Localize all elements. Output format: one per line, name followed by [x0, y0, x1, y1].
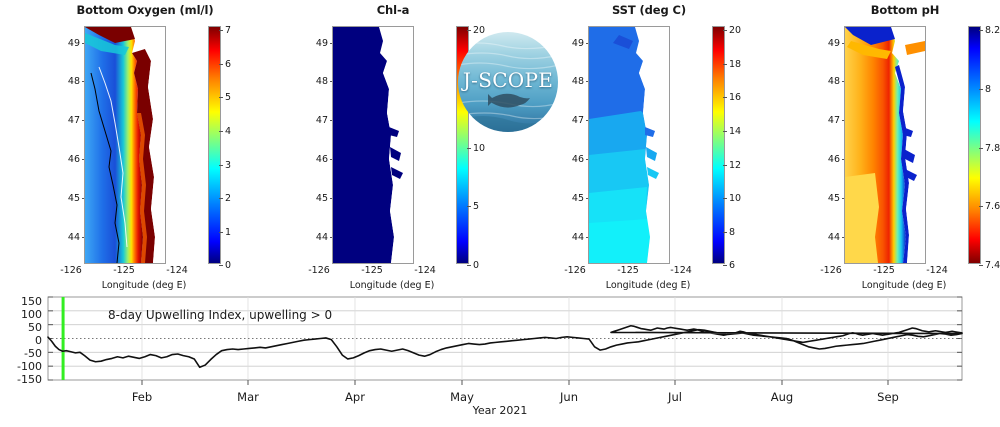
cbar-tick: 10	[473, 144, 485, 153]
cbar-tick: 14	[729, 127, 741, 136]
lat-tick: 45	[550, 195, 584, 203]
lat-tick: 45	[806, 195, 840, 203]
upwelling-plot-area	[0, 292, 1000, 387]
lon-tick: -125	[355, 265, 389, 276]
cbar-tick: 5	[473, 202, 479, 211]
map-sst[interactable]	[588, 26, 670, 264]
lat-tick: 46	[806, 156, 840, 164]
x-axis-label-longitude: Longitude (deg E)	[64, 280, 224, 291]
colorbar-labels-bottom-oxygen: 7 6 5 4 3 2 1 0	[222, 20, 262, 268]
lat-tick: 46	[46, 156, 80, 164]
cbar-tick: 0	[473, 261, 479, 270]
lon-tick: -126	[302, 265, 336, 276]
cbar-tick: 3	[225, 161, 231, 170]
x-axis-label-longitude: Longitude (deg E)	[824, 280, 984, 291]
cbar-tick: 20	[729, 26, 741, 35]
cbar-tick: 6	[729, 261, 735, 270]
lon-tick: -126	[54, 265, 88, 276]
lat-tick: 45	[46, 195, 80, 203]
cbar-tick: 5	[225, 93, 231, 102]
lon-tick: -126	[558, 265, 592, 276]
lon-ticks: -126 -125 -124	[558, 265, 698, 276]
lat-tick: 46	[550, 156, 584, 164]
lon-tick: -125	[107, 265, 141, 276]
lat-tick: 44	[550, 234, 584, 242]
lat-tick: 46	[294, 156, 328, 164]
chart-annotation: 8-day Upwelling Index, upwelling > 0	[108, 308, 332, 322]
lon-ticks: -126 -125 -124	[302, 265, 442, 276]
lon-tick: -125	[867, 265, 901, 276]
cbar-tick: 12	[729, 161, 741, 170]
lon-tick: -126	[814, 265, 848, 276]
x-tick: Jun	[560, 390, 578, 404]
lat-tick: 47	[806, 117, 840, 125]
cbar-tick: 6	[225, 60, 231, 69]
panel-bottom-oxygen: Bottom Oxygen (ml/l) Latitude (deg N) 49…	[40, 0, 290, 290]
panel-bottom-ph: Bottom pH Latitude (deg N) 49 48 47 46 4…	[800, 0, 1000, 290]
x-tick: Sep	[877, 390, 899, 404]
cbar-tick: 18	[729, 60, 741, 69]
lon-tick: -124	[664, 265, 698, 276]
map-raster-sst	[589, 27, 669, 263]
cbar-tick: 7	[225, 26, 231, 35]
cbar-tick: 1	[225, 228, 231, 237]
x-tick: Apr	[345, 390, 365, 404]
lat-tick: 47	[46, 117, 80, 125]
cbar-tick: 2	[225, 194, 231, 203]
colorbar-bottom-oxygen	[208, 26, 221, 264]
lon-ticks: -126 -125 -124	[814, 265, 954, 276]
cbar-tick: 8.2	[985, 26, 1000, 35]
cbar-tick: 7.4	[985, 261, 1000, 270]
x-axis-label-longitude: Longitude (deg E)	[568, 280, 728, 291]
map-bottom-oxygen[interactable]	[84, 26, 166, 264]
map-raster-ph	[845, 27, 925, 263]
cbar-tick: 8	[729, 228, 735, 237]
panel-title-chl-a: Chl-a	[288, 3, 498, 17]
map-raster-oxygen	[85, 27, 165, 263]
colorbar-labels-sst: 20 18 16 14 12 10 8 6	[726, 20, 766, 268]
map-panels-row: Bottom Oxygen (ml/l) Latitude (deg N) 49…	[0, 0, 1000, 290]
x-tick: Mar	[237, 390, 259, 404]
x-axis-label-year: Year 2021	[0, 404, 1000, 417]
lon-tick: -124	[920, 265, 954, 276]
cbar-tick: 4	[225, 127, 231, 136]
lat-tick: 48	[46, 78, 80, 86]
cbar-tick: 10	[729, 194, 741, 203]
x-tick: May	[450, 390, 474, 404]
cbar-tick: 16	[729, 93, 741, 102]
cbar-tick: 7.6	[985, 202, 1000, 211]
lat-tick: 44	[294, 234, 328, 242]
panel-title-bottom-oxygen: Bottom Oxygen (ml/l)	[40, 3, 250, 17]
colorbar-labels-bottom-ph: 8.2 8 7.8 7.6 7.4	[982, 20, 1000, 268]
panel-title-bottom-ph: Bottom pH	[800, 3, 1000, 17]
colorbar-bottom-ph	[968, 26, 981, 264]
lat-tick: 48	[294, 78, 328, 86]
lat-tick: 49	[294, 40, 328, 48]
lat-tick: 45	[294, 195, 328, 203]
upwelling-index-chart[interactable]: 150 100 50 0 -50 -100 -150 8-day Upwelli…	[0, 292, 1000, 427]
cbar-tick: 0	[225, 261, 231, 270]
jscope-logo[interactable]: J-SCOPE	[458, 32, 558, 132]
lon-tick: -125	[611, 265, 645, 276]
lat-tick: 48	[806, 78, 840, 86]
colorbar-sst	[712, 26, 725, 264]
x-tick: Jul	[668, 390, 682, 404]
lat-tick: 49	[46, 40, 80, 48]
map-bottom-ph[interactable]	[844, 26, 926, 264]
lat-tick: 44	[806, 234, 840, 242]
lon-tick: -124	[160, 265, 194, 276]
panel-sst: SST (deg C) Latitude (deg N) 49 48 47 46…	[544, 0, 794, 290]
x-axis-label-longitude: Longitude (deg E)	[312, 280, 472, 291]
x-tick: Feb	[132, 390, 152, 404]
cbar-tick: 7.8	[985, 144, 1000, 153]
cbar-tick: 8	[985, 85, 991, 94]
panel-title-sst: SST (deg C)	[544, 3, 754, 17]
lon-ticks: -126 -125 -124	[54, 265, 194, 276]
lat-tick: 47	[294, 117, 328, 125]
x-tick: Aug	[771, 390, 793, 404]
lat-tick: 49	[806, 40, 840, 48]
jscope-logo-text: J-SCOPE	[458, 68, 558, 92]
lat-tick: 44	[46, 234, 80, 242]
lon-tick: -124	[408, 265, 442, 276]
map-chl-a[interactable]	[332, 26, 414, 264]
map-raster-chla	[333, 27, 413, 263]
